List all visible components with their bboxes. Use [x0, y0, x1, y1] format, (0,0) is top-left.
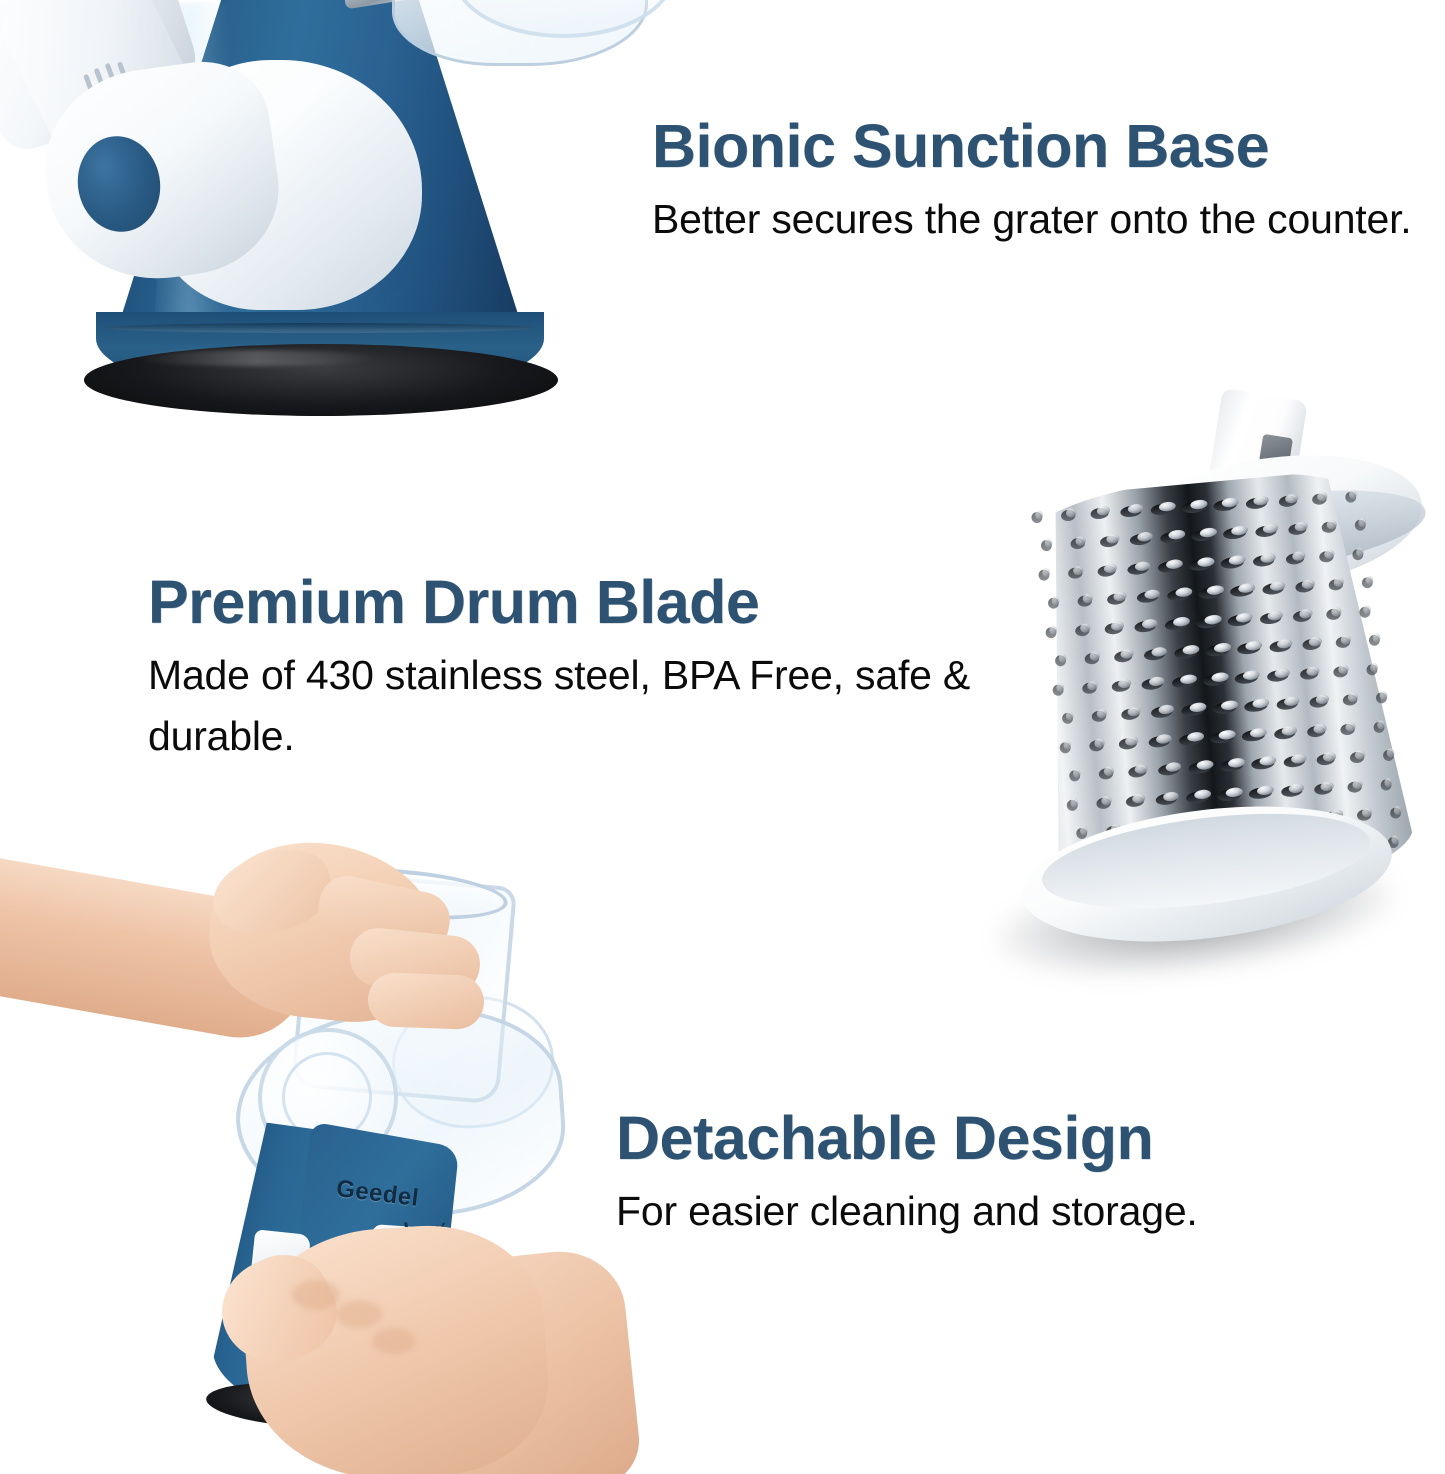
- detachable-photo: Geedel LOCK RELEASE: [0, 828, 600, 1474]
- feature-title-detachable-design: Detachable Design: [616, 1108, 1376, 1169]
- drum-blade-photo: [985, 392, 1445, 1002]
- feature-block-drum-blade: Premium Drum Blade Made of 430 stainless…: [148, 572, 1008, 766]
- feature-description-detachable-design: For easier cleaning and storage.: [616, 1181, 1376, 1242]
- rim-seam-line: [104, 323, 536, 333]
- suction-base-photo: [0, 0, 660, 470]
- suction-ring-highlight: [130, 350, 380, 366]
- knuckle-3: [372, 1328, 416, 1354]
- feature-block-suction-base: Bionic Sunction Base Better secures the …: [652, 116, 1412, 250]
- feature-title-drum-blade: Premium Drum Blade: [148, 572, 1008, 633]
- feature-block-detachable-design: Detachable Design For easier cleaning an…: [616, 1108, 1376, 1242]
- knuckle-2: [336, 1300, 382, 1328]
- knuckle-1: [292, 1280, 340, 1310]
- infographic-page: Bionic Sunction Base Better secures the …: [0, 0, 1445, 1474]
- feature-description-suction-base: Better secures the grater onto the count…: [652, 189, 1412, 250]
- upper-finger-3: [367, 972, 485, 1030]
- feature-title-suction-base: Bionic Sunction Base: [652, 116, 1412, 177]
- feature-description-drum-blade: Made of 430 stainless steel, BPA Free, s…: [148, 645, 1008, 766]
